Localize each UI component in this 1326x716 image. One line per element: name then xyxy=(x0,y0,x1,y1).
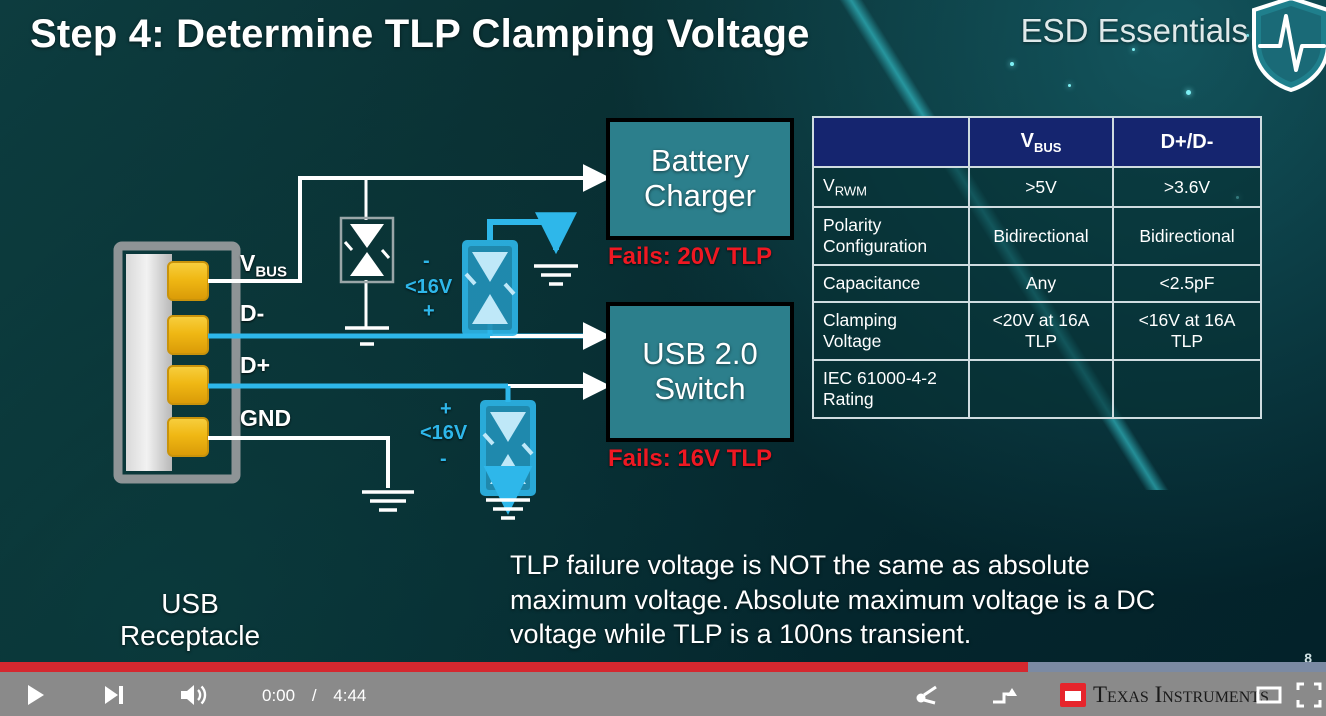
current-time: 0:00 xyxy=(262,686,295,705)
table-header-dpdm: D+/D- xyxy=(1113,117,1261,167)
table-header-row: VBUS D+/D- xyxy=(813,117,1261,167)
ti-logo-text: Texas Instruments xyxy=(1093,682,1269,708)
table-cell-polarity-vbus: Bidirectional xyxy=(969,207,1113,265)
table-cell-iec-vbus xyxy=(969,360,1113,418)
fails-label-battery-charger: Fails: 20V TLP xyxy=(608,243,772,271)
tvs-bottom-voltage: <16V xyxy=(420,422,467,445)
volume-icon xyxy=(178,682,208,708)
play-icon xyxy=(22,682,48,708)
next-track-icon xyxy=(100,682,126,708)
ti-logo-mark xyxy=(1060,683,1086,707)
table-rowlabel-iec: IEC 61000-4-2 Rating xyxy=(813,360,969,418)
block-usb-switch-line1: USB 2.0 xyxy=(642,337,757,372)
tvs-top-voltage: <16V xyxy=(405,276,452,299)
progress-bar-played[interactable] xyxy=(0,662,1028,672)
video-player-page: Step 4: Determine TLP Clamping Voltage E… xyxy=(0,0,1326,716)
fullscreen-button[interactable] xyxy=(1296,682,1322,708)
table-cell-vrwm-dpdm: >3.6V xyxy=(1113,167,1261,207)
usb-caption-line1: USB xyxy=(100,588,280,620)
tvs-bottom-plus-sign: + xyxy=(440,398,452,421)
slide-title: Step 4: Determine TLP Clamping Voltage xyxy=(30,12,810,57)
duration: 4:44 xyxy=(333,686,366,705)
table-row: Clamping Voltage <20V at 16A TLP <16V at… xyxy=(813,302,1261,360)
table-row: VRWM >5V >3.6V xyxy=(813,167,1261,207)
circuit-diagram: VBUS D- D+ GND - <16V + + <16V - USB Rec… xyxy=(0,100,820,580)
table-cell-clamping-dpdm: <16V at 16A TLP xyxy=(1113,302,1261,360)
ti-logo: Texas Instruments xyxy=(1060,682,1269,708)
table-cell-vrwm-vbus: >5V xyxy=(969,167,1113,207)
progress-bar-track[interactable] xyxy=(0,662,1326,672)
usb-caption-line2: Receptacle xyxy=(100,620,280,652)
theater-button[interactable] xyxy=(1256,682,1282,708)
volume-button[interactable] xyxy=(178,682,208,708)
table-cell-polarity-dpdm: Bidirectional xyxy=(1113,207,1261,265)
settings-button[interactable] xyxy=(912,682,940,708)
fails-label-usb-switch: Fails: 16V TLP xyxy=(608,445,772,473)
pin-label-vbus: VBUS xyxy=(240,250,287,281)
table-rowlabel-clamping: Clamping Voltage xyxy=(813,302,969,360)
theater-mode-icon xyxy=(1256,682,1282,708)
block-battery-charger-line2: Charger xyxy=(644,179,756,214)
table-rowlabel-vrwm: VRWM xyxy=(813,167,969,207)
table-header-vbus: VBUS xyxy=(969,117,1113,167)
block-usb-switch-line2: Switch xyxy=(642,372,757,407)
block-usb-switch: USB 2.0 Switch xyxy=(606,302,794,442)
table-cell-iec-dpdm xyxy=(1113,360,1261,418)
table-rowlabel-capacitance: Capacitance xyxy=(813,265,969,302)
table-row: Capacitance Any <2.5pF xyxy=(813,265,1261,302)
table-row: Polarity Configuration Bidirectional Bid… xyxy=(813,207,1261,265)
block-battery-charger: Battery Charger xyxy=(606,118,794,240)
table-rowlabel-polarity: Polarity Configuration xyxy=(813,207,969,265)
tvs-top-minus-sign: - xyxy=(423,250,430,273)
play-button[interactable] xyxy=(22,682,48,708)
pin-label-dplus: D+ xyxy=(240,352,270,379)
bg-sparkle xyxy=(1186,90,1191,95)
miniplayer-button[interactable] xyxy=(990,682,1018,708)
spec-table: VBUS D+/D- VRWM >5V >3.6V Polarity Confi… xyxy=(812,116,1262,419)
pin-label-gnd: GND xyxy=(240,405,291,432)
fullscreen-icon xyxy=(1296,682,1322,708)
tvs-bottom-minus-sign: - xyxy=(440,448,447,471)
time-display: 0:00 / 4:44 xyxy=(262,686,366,706)
miniplayer-icon xyxy=(990,682,1018,708)
table-cell-capacitance-vbus: Any xyxy=(969,265,1113,302)
slide-caption: TLP failure voltage is NOT the same as a… xyxy=(510,548,1210,652)
table-cell-capacitance-dpdm: <2.5pF xyxy=(1113,265,1261,302)
brand-label: ESD Essentials xyxy=(1021,12,1248,50)
next-button[interactable] xyxy=(100,682,126,708)
time-separator: / xyxy=(312,686,317,705)
bg-sparkle xyxy=(1010,62,1014,66)
table-cell-clamping-vbus: <20V at 16A TLP xyxy=(969,302,1113,360)
tvs-top-plus-sign: + xyxy=(423,300,435,323)
slide-canvas: Step 4: Determine TLP Clamping Voltage E… xyxy=(0,0,1326,672)
table-header-blank xyxy=(813,117,969,167)
block-battery-charger-line1: Battery xyxy=(644,144,756,179)
video-player-controls: 0:00 / 4:44 Texas Instruments xyxy=(0,672,1326,716)
shield-pulse-icon xyxy=(1250,0,1326,92)
bg-sparkle xyxy=(1068,84,1071,87)
table-row: IEC 61000-4-2 Rating xyxy=(813,360,1261,418)
settings-gear-icon xyxy=(912,682,940,708)
usb-receptacle-caption: USB Receptacle xyxy=(100,588,280,652)
pin-label-dminus: D- xyxy=(240,300,264,327)
